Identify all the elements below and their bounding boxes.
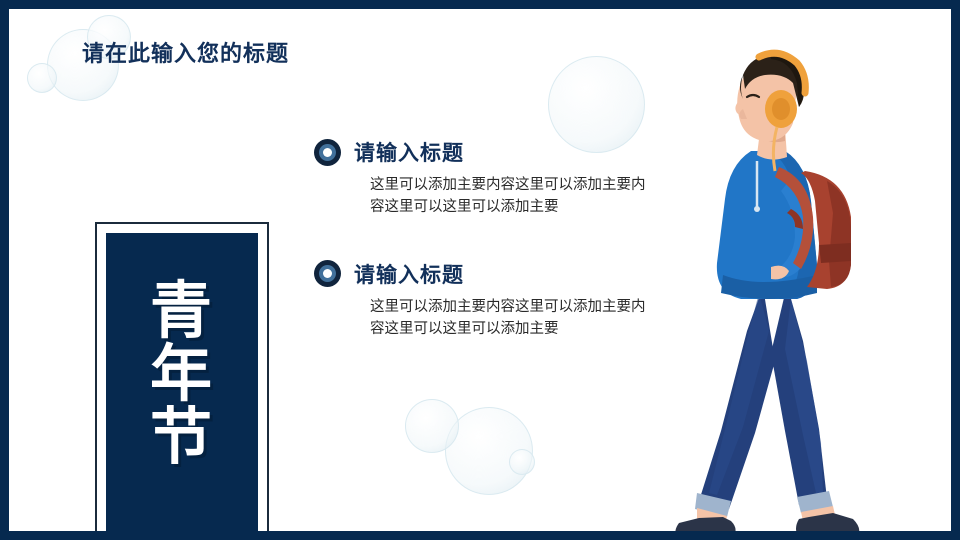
- vertical-char-1: 青: [95, 280, 269, 343]
- page-title: 请在此输入您的标题: [82, 36, 289, 68]
- bubble-decoration-icon: [509, 449, 535, 475]
- slide-body: 请在此输入您的标题 青 年 节 请输入标题: [9, 9, 951, 531]
- content-block-body: 这里可以添加主要内容这里可以添加主要内容这里可以这里可以添加主要: [370, 296, 650, 341]
- circle-bullet-icon: [314, 139, 341, 166]
- circle-bullet-core: [323, 148, 332, 157]
- content-block: 请输入标题 这里可以添加主要内容这里可以添加主要内容这里可以这里可以添加主要: [314, 259, 664, 341]
- bubble-decoration-icon: [27, 63, 57, 93]
- vertical-title-text: 青 年 节: [95, 280, 269, 470]
- circle-bullet-ring: [319, 144, 336, 161]
- circle-bullet-ring: [319, 265, 336, 282]
- content-block-title: 请输入标题: [354, 259, 464, 289]
- vertical-char-3: 节: [95, 406, 269, 469]
- bubble-decoration-icon: [405, 399, 459, 453]
- vertical-char-2: 年: [95, 343, 269, 406]
- content-block-body: 这里可以添加主要内容这里可以添加主要内容这里可以这里可以添加主要: [370, 174, 650, 219]
- vertical-title-panel: 青 年 节: [95, 222, 269, 531]
- content-block-header: 请输入标题: [314, 137, 664, 167]
- content-block-header: 请输入标题: [314, 259, 664, 289]
- content-list: 请输入标题 这里可以添加主要内容这里可以添加主要内容这里可以这里可以添加主要 请…: [314, 137, 664, 381]
- content-block-title: 请输入标题: [354, 137, 464, 167]
- slide-canvas: 请在此输入您的标题 青 年 节 请输入标题: [0, 0, 960, 540]
- student-illustration: [651, 31, 911, 531]
- circle-bullet-icon: [314, 260, 341, 287]
- circle-bullet-core: [323, 269, 332, 278]
- content-block: 请输入标题 这里可以添加主要内容这里可以添加主要内容这里可以这里可以添加主要: [314, 137, 664, 219]
